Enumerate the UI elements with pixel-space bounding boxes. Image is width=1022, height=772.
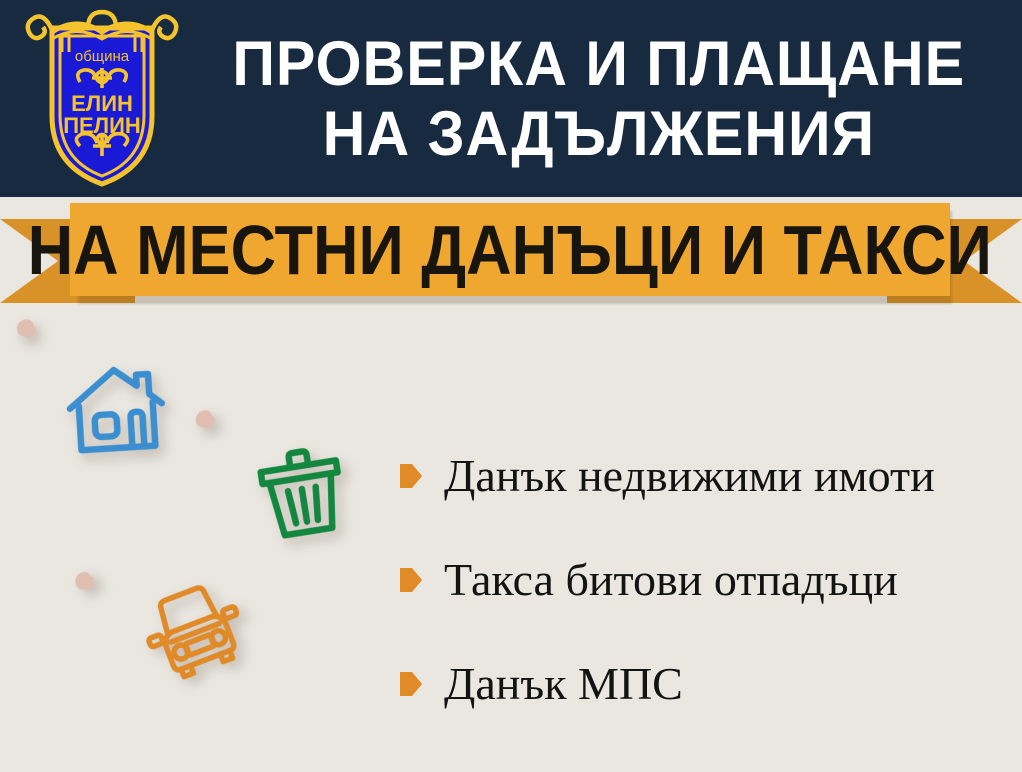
arrow-bullet-icon [400,567,422,593]
list-item[interactable]: Данък МПС [400,632,1010,736]
list-item[interactable]: Такса битови отпадъци [400,528,1010,632]
title-line-1: ПРОВЕРКА И ПЛАЩАНЕ [233,29,966,99]
list-item-label: Такса битови отпадъци [444,554,898,606]
trash-can-icon [243,431,362,550]
svg-text:община: община [75,48,130,65]
municipality-logo: община ЕЛИН ПЕЛИН [22,6,182,191]
list-item-label: Данък недвижими имоти [444,450,935,502]
arrow-bullet-icon [400,463,422,489]
tax-types-list: Данък недвижими имоти Такса битови отпад… [400,424,1010,736]
list-item[interactable]: Данък недвижими имоти [400,424,1010,528]
subtitle-ribbon: НА МЕСТНИ ДАНЪЦИ И ТАКСИ [0,197,1022,307]
house-icon [61,353,171,463]
header-title: ПРОВЕРКА И ПЛАЩАНЕ НА ЗАДЪЛЖЕНИЯ [186,14,1012,184]
svg-text:ПЕЛИН: ПЕЛИН [63,113,141,138]
ribbon-text: НА МЕСТНИ ДАНЪЦИ И ТАКСИ [28,215,992,285]
arrow-bullet-icon [400,671,422,697]
list-item-label: Данък МПС [444,658,683,710]
coat-of-arms-icon: община ЕЛИН ПЕЛИН [22,6,182,191]
title-line-2: НА ЗАДЪЛЖЕНИЯ [323,99,875,169]
ribbon-band: НА МЕСТНИ ДАНЪЦИ И ТАКСИ [70,203,950,296]
poster-root: община ЕЛИН ПЕЛИН ПРОВЕРКА И ПЛАЩАНЕ НА … [0,0,1022,772]
header-banner: община ЕЛИН ПЕЛИН ПРОВЕРКА И ПЛАЩАНЕ НА … [0,0,1022,197]
property-stamp-card [16,308,215,507]
